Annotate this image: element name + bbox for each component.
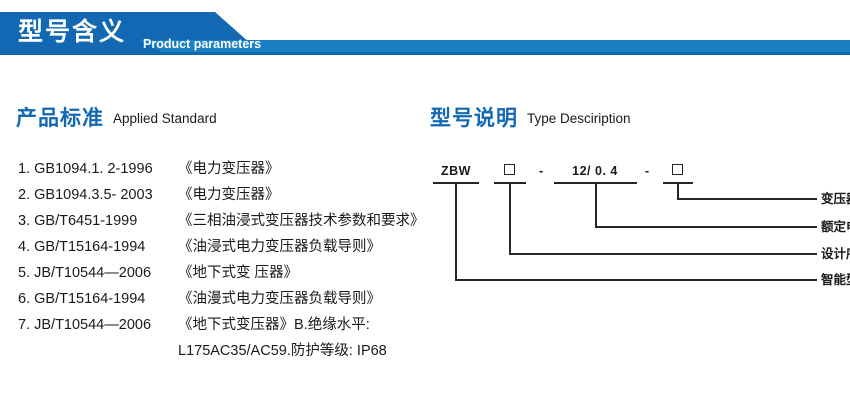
- code-token-box-design: [504, 164, 515, 175]
- leader-hline-capacity: [677, 198, 817, 200]
- code-token-box-capacity: [672, 164, 683, 175]
- leader-label-capacity: 变压器容量: [821, 191, 850, 207]
- list-item: 7. JB/T10544—2006 《地下式变压器》B.绝缘水平:: [18, 312, 418, 338]
- section-heading-cn: 产品标准: [16, 107, 104, 130]
- banner-underline: [0, 52, 850, 55]
- leader-hline-series: [455, 279, 817, 281]
- standard-name: 《电力变压器》: [178, 182, 280, 208]
- section-heading-type-description: 型号说明Type Desciription: [430, 102, 631, 132]
- list-item: 5. JB/T10544—2006 《地下式变 压器》: [18, 260, 418, 286]
- standard-code: 7. JB/T10544—2006: [18, 312, 178, 338]
- section-heading-applied-standard: 产品标准Applied Standard: [16, 102, 217, 132]
- standard-name: 《油浸式电力变压器负载导则》: [178, 234, 381, 260]
- list-item: 6. GB/T15164-1994 《油漫式电力变压器负载导则》: [18, 286, 418, 312]
- list-item: 1. GB1094.1. 2-1996 《电力变压器》: [18, 156, 418, 182]
- list-item: 4. GB/T15164-1994 《油浸式电力变压器负载导则》: [18, 234, 418, 260]
- standard-continuation-line: L175AC35/AC59.防护等级: IP68: [18, 338, 418, 364]
- standard-code: 2. GB1094.3.5- 2003: [18, 182, 178, 208]
- banner-title-cn: 型号含义: [18, 16, 126, 48]
- standard-code: 4. GB/T15164-1994: [18, 234, 178, 260]
- standard-name: 《油漫式电力变压器负载导则》: [178, 286, 381, 312]
- standard-name: 《电力变压器》: [178, 156, 280, 182]
- code-dash-2: -: [645, 163, 649, 179]
- leader-hline-voltage: [595, 226, 817, 228]
- standard-code: 5. JB/T10544—2006: [18, 260, 178, 286]
- standard-code: 6. GB/T15164-1994: [18, 286, 178, 312]
- list-item: 3. GB/T6451-1999 《三相油浸式变压器技术参数和要求》: [18, 208, 418, 234]
- leader-label-voltage: 额定电压(高压/低压): [821, 219, 850, 235]
- leader-hline-design: [509, 253, 817, 255]
- applied-standards-list: 1. GB1094.1. 2-1996 《电力变压器》 2. GB1094.3.…: [18, 156, 418, 364]
- section-heading-en: Type Desciription: [527, 111, 631, 126]
- standard-code: 3. GB/T6451-1999: [18, 208, 178, 234]
- banner-title-en: Product parameters: [143, 36, 261, 52]
- leader-label-design: 设计序号: [821, 246, 850, 262]
- page-header-banner: 型号含义 Product parameters: [0, 12, 850, 58]
- code-dash-1: -: [539, 163, 543, 179]
- leader-vline-design: [509, 182, 511, 254]
- type-code-diagram: ZBW - 12/ 0. 4 - 变压器容量 额定电压(高压/低压) 设计序号 …: [425, 155, 845, 285]
- code-token-voltage: 12/ 0. 4: [558, 163, 632, 179]
- standard-name: 《地下式变压器》B.绝缘水平:: [178, 312, 370, 338]
- standard-code: 1. GB1094.1. 2-1996: [18, 156, 178, 182]
- leader-vline-capacity: [677, 182, 679, 199]
- standard-name: 《三相油浸式变压器技术参数和要求》: [178, 208, 425, 234]
- leader-vline-series: [455, 182, 457, 280]
- section-heading-en: Applied Standard: [113, 111, 217, 126]
- code-token-series: ZBW: [433, 163, 479, 179]
- leader-label-series: 智能型一体化变电站: [821, 272, 850, 288]
- standard-name: 《地下式变 压器》: [178, 260, 298, 286]
- list-item: 2. GB1094.3.5- 2003 《电力变压器》: [18, 182, 418, 208]
- leader-vline-voltage: [595, 182, 597, 227]
- section-heading-cn: 型号说明: [430, 107, 518, 130]
